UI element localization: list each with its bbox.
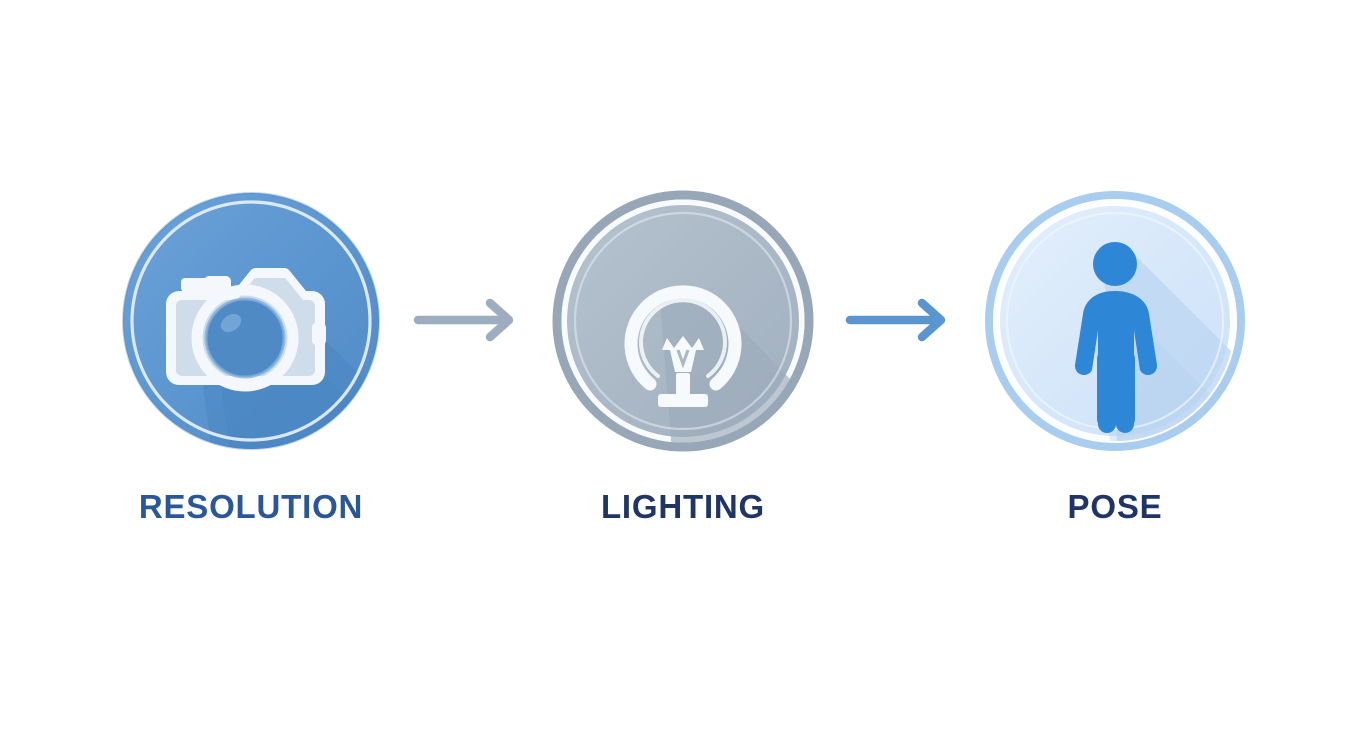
process-flow-diagram: RESOLUTION [0,0,1366,737]
stage-pose-badge[interactable] [984,190,1246,452]
stage-label-lighting: LIGHTING [601,490,765,523]
stage-lighting[interactable]: LIGHTING [533,0,833,737]
arrow-right-icon [401,296,533,342]
camera-badge-graphic [120,190,382,452]
stage-label-pose: POSE [1068,490,1163,523]
stage-label-resolution: RESOLUTION [139,490,363,523]
stage-lighting-badge[interactable] [552,190,814,452]
arrow-right-icon [833,296,965,342]
stage-resolution-badge[interactable] [120,190,382,452]
camera-side-nub [312,322,326,346]
stage-resolution[interactable]: RESOLUTION [101,0,401,737]
lightbulb-badge-graphic [552,190,814,452]
stage-pose[interactable]: POSE [965,0,1265,737]
connector-lighting-pose [833,0,965,737]
camera-flash-nub [181,278,209,292]
person-badge-graphic [984,190,1246,452]
connector-resolution-lighting [401,0,533,737]
